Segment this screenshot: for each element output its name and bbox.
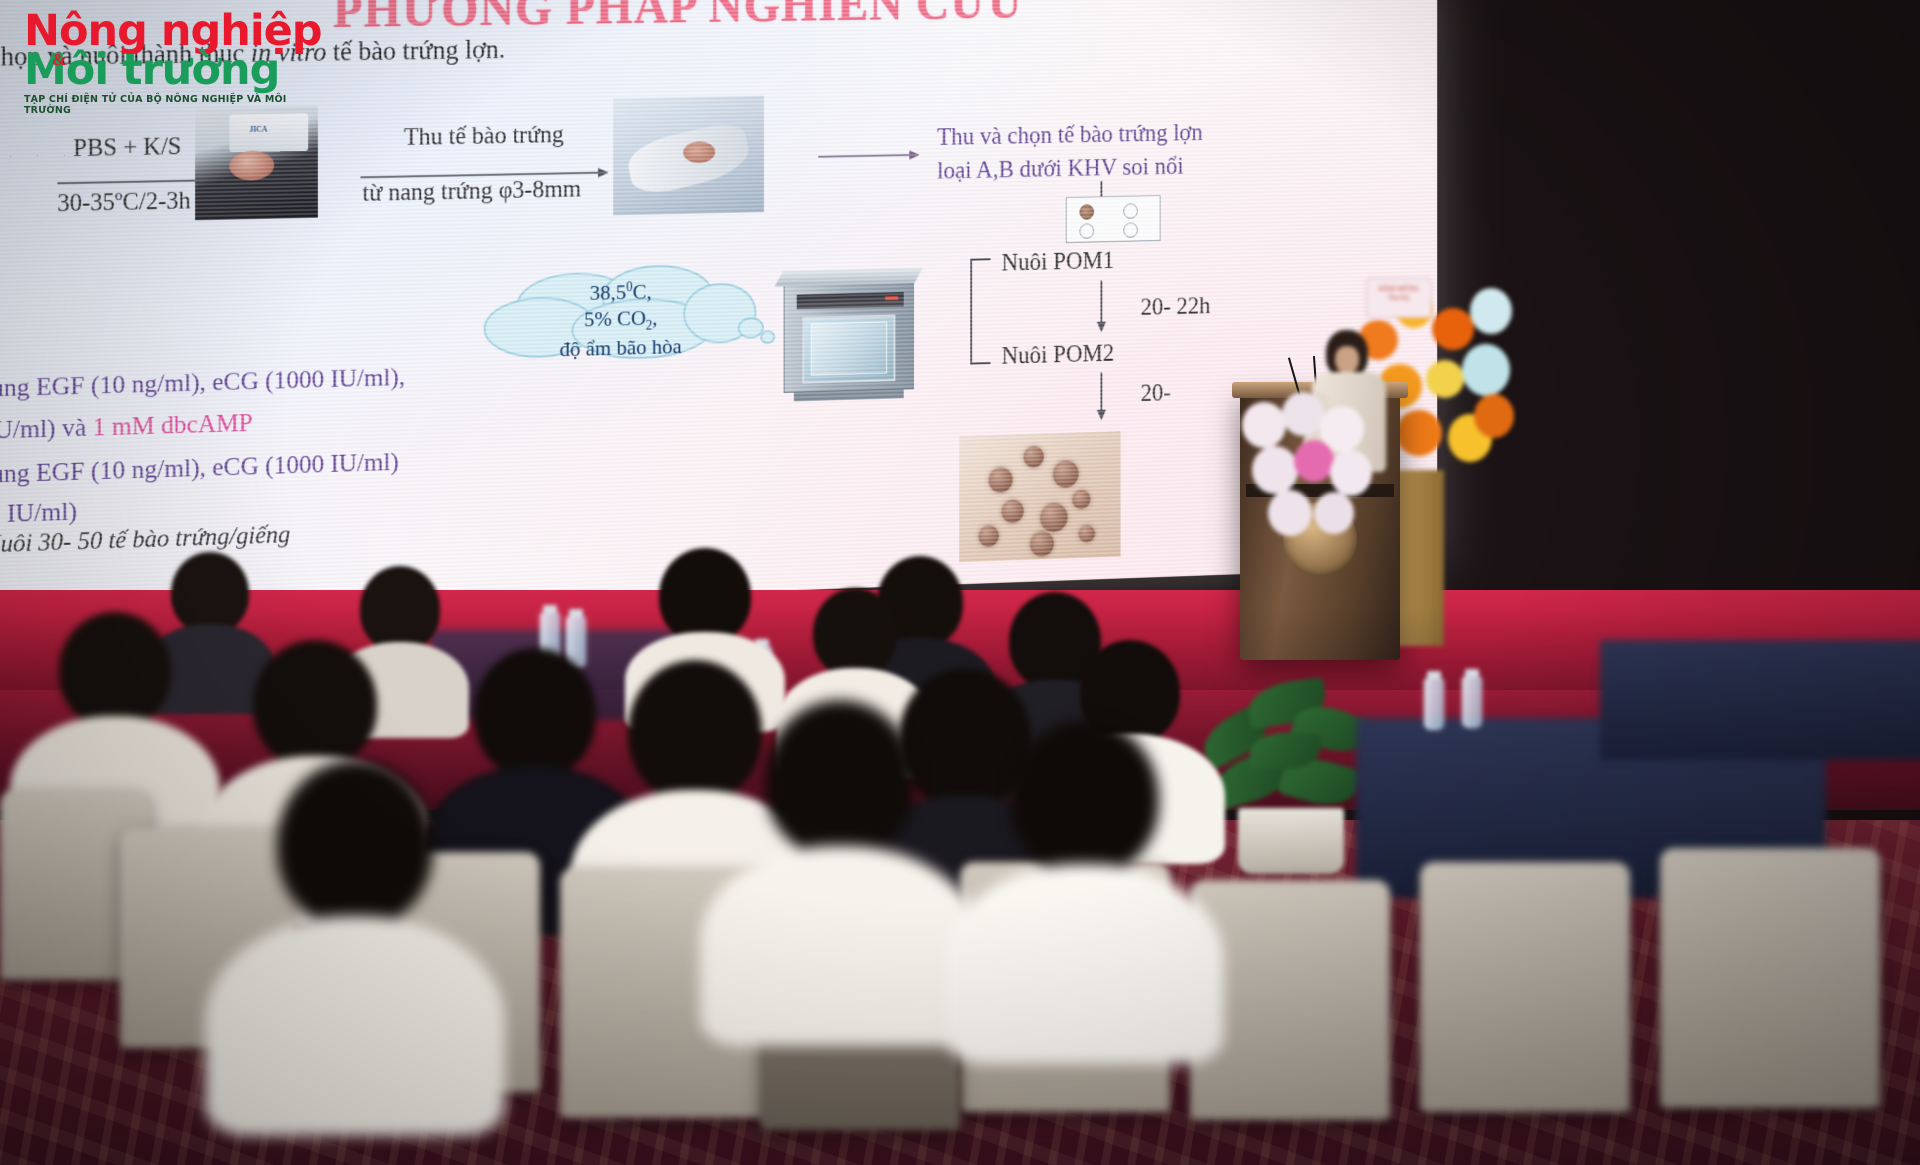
presenter-face xyxy=(1335,346,1359,373)
person-head-5 xyxy=(813,588,897,678)
pom-bracket xyxy=(970,258,990,364)
bubble-tail-2 xyxy=(760,330,775,344)
arrow-down-3 xyxy=(1100,372,1102,410)
flower-l5 xyxy=(1294,440,1334,482)
flower-8 xyxy=(1396,410,1442,456)
conditions-thought-bubble: 38,50C, 5% CO2, độ ẩm bão hòa xyxy=(480,267,760,364)
incubator-illustration xyxy=(784,275,914,392)
flower-6 xyxy=(1462,344,1510,396)
well-empty-1 xyxy=(1123,203,1138,219)
flower-11 xyxy=(1474,394,1514,438)
flower-7 xyxy=(1470,288,1512,334)
note-accent-dbcamp: 1 mM dbcAMP xyxy=(93,408,253,441)
audience-person-13 xyxy=(740,700,940,970)
arrow2-top-label: Thu tế bào trứng xyxy=(404,122,564,152)
audience-person-14 xyxy=(985,720,1185,990)
water-bottle-1 xyxy=(1424,678,1444,730)
well-filled-1 xyxy=(1079,204,1094,220)
note-line-2: 000 IU/ml) và 1 mM dbcAMP xyxy=(0,408,253,447)
chair-7 xyxy=(1420,862,1630,1112)
photo-oocyte-micrograph xyxy=(959,431,1120,562)
flower-l1 xyxy=(1242,402,1286,448)
person-head-8 xyxy=(59,612,171,728)
photo-jica-label: JICA xyxy=(249,125,267,134)
watermark-tagline: TẠP CHÍ ĐIỆN TỬ CỦA BỘ NÔNG NGHIỆP VÀ MÔ… xyxy=(24,94,324,116)
oocyte-8 xyxy=(1030,531,1054,557)
person-shoulders-13 xyxy=(700,846,980,1046)
photo-tissue xyxy=(683,141,715,163)
well-empty-3 xyxy=(1123,222,1138,238)
person-head-3 xyxy=(659,548,751,644)
watermark-ampersand: & xyxy=(52,50,66,70)
note-line-1: Bổ sung EGF (10 ng/ml), eCG (1000 IU/ml)… xyxy=(0,362,405,404)
pom1-label: Nuôi POM1 xyxy=(1002,248,1115,277)
arrow-down-2 xyxy=(1100,281,1102,323)
arrow1-bottom-label: 30-35ºC/2-3h xyxy=(57,188,190,219)
oocyte-6 xyxy=(1072,490,1090,510)
well-plate-icon xyxy=(1066,195,1161,243)
person-shoulders-15 xyxy=(205,916,505,1136)
arrow-3 xyxy=(818,154,918,158)
chair-8 xyxy=(1660,848,1880,1108)
oocyte-1 xyxy=(988,467,1012,493)
flower-l4 xyxy=(1252,446,1298,494)
flower-card-line-1: KÍNH MỪNG xyxy=(1367,285,1431,294)
oocyte-2 xyxy=(1024,446,1044,468)
flower-l8 xyxy=(1314,492,1354,534)
audience-person-15 xyxy=(250,760,460,1050)
publication-watermark: Nông nghiệp & Môi trường TẠP CHÍ ĐIỆN TỬ… xyxy=(24,10,324,116)
incubator-glass xyxy=(811,322,887,376)
flower-l2 xyxy=(1282,392,1324,436)
watermark-line-2: Môi trường xyxy=(24,49,324,92)
photo-petri-dish xyxy=(229,150,274,181)
pom2-time: 20- xyxy=(1141,380,1171,408)
flower-card-line-2: Thư Ký xyxy=(1367,294,1431,303)
person-head-15 xyxy=(277,760,433,928)
person-head-13 xyxy=(765,700,915,858)
person-head-9 xyxy=(253,640,377,768)
incubator-panel xyxy=(797,292,904,309)
right-line-2: loại A,B dưới KHV soi nổi xyxy=(937,154,1184,186)
person-head-10 xyxy=(474,648,596,778)
arrow1-top-label: PBS + K/S xyxy=(73,133,181,163)
flower-l7 xyxy=(1268,490,1312,536)
oocyte-9 xyxy=(1079,525,1095,543)
arrow-1 xyxy=(57,179,207,184)
flower-5 xyxy=(1426,360,1464,398)
bottle-cap-4 xyxy=(569,609,583,617)
note-line-3: Bổ sung EGF (10 ng/ml), eCG (1000 IU/ml) xyxy=(0,447,399,491)
pom2-label: Nuôi POM2 xyxy=(1002,341,1115,371)
note-line-4: (1000 IU/ml) xyxy=(0,497,77,531)
oocyte-4 xyxy=(1001,500,1023,524)
bottle-cap-1 xyxy=(1427,671,1441,679)
photo-instrument xyxy=(230,113,308,152)
well-empty-2 xyxy=(1079,223,1094,239)
incubator-door xyxy=(802,315,896,384)
conference-photo: PHƯƠNG PHÁP NGHIÊN CỨU lựa chọn và nuôi … xyxy=(0,0,1920,1165)
oocyte-3 xyxy=(1053,460,1079,488)
photo-ovary-dissection xyxy=(613,96,764,216)
flower-3 xyxy=(1432,308,1474,350)
person-shoulders-14 xyxy=(946,864,1224,1064)
person-head-14 xyxy=(1011,720,1159,876)
side-table-far-right xyxy=(1600,640,1920,760)
incubator-legs xyxy=(794,390,903,402)
incubator-led xyxy=(885,296,898,300)
flower-l6 xyxy=(1330,450,1372,496)
flower-greeting-card: KÍNH MỪNG Thư Ký xyxy=(1366,278,1432,318)
bubble-text: 38,50C, 5% CO2, độ ẩm bão hòa xyxy=(480,276,760,365)
plant-pot xyxy=(1238,808,1344,874)
photo-lab-bench: JICA xyxy=(195,106,318,220)
arrow2-bottom-label: từ nang trứng φ3-8mm xyxy=(362,176,581,208)
right-line-1: Thu và chọn tế bào trứng lợn xyxy=(937,120,1203,152)
bottle-cap-2 xyxy=(1465,669,1479,677)
oocyte-5 xyxy=(1040,503,1067,533)
water-bottle-2 xyxy=(1462,676,1482,728)
audience-person-8 xyxy=(40,612,190,802)
slide-subtitle-suffix: tế bào trứng lợn. xyxy=(326,34,505,66)
bottle-cap-3 xyxy=(543,605,557,613)
oocyte-7 xyxy=(979,526,999,548)
flower-arrangement-left xyxy=(1238,392,1378,542)
pom1-time: 20- 22h xyxy=(1141,293,1211,321)
